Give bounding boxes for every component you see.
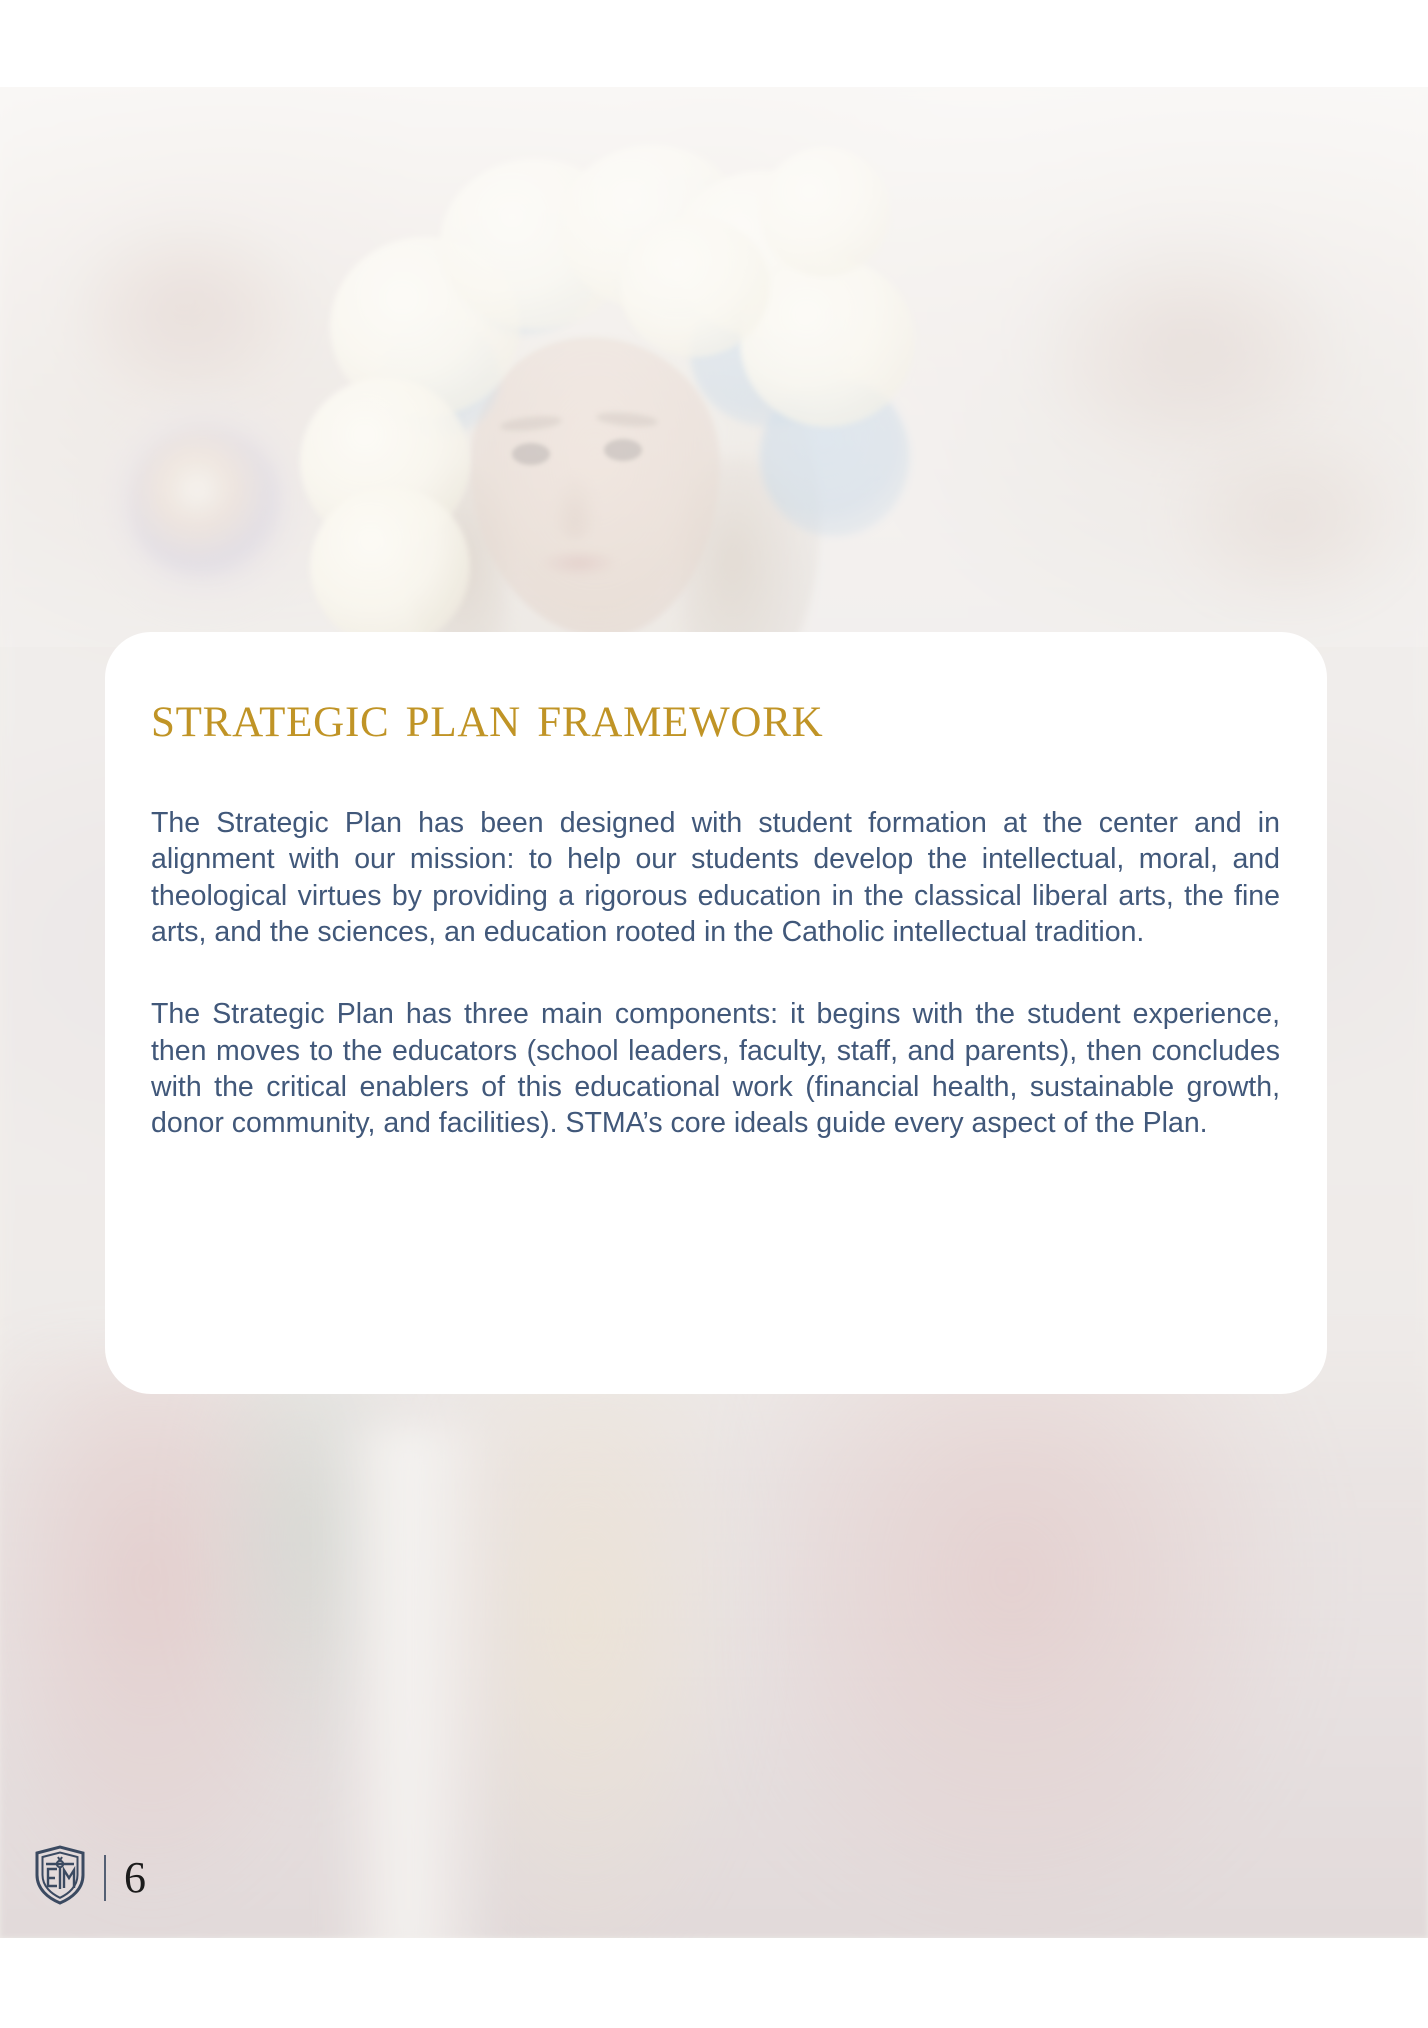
page-footer: 6 (34, 1845, 146, 1910)
page-title: Strategic Plan Framework (151, 684, 1283, 749)
stma-shield-logo-icon (34, 1845, 86, 1910)
paragraph-components: The Strategic Plan has three main compon… (149, 996, 1283, 1141)
document-page: Strategic Plan Framework The Strategic P… (0, 0, 1428, 2028)
paragraph-mission: The Strategic Plan has been designed wit… (149, 805, 1283, 950)
footer-divider (104, 1855, 106, 1901)
page-number: 6 (124, 1856, 146, 1900)
content-card: Strategic Plan Framework The Strategic P… (105, 632, 1327, 1394)
